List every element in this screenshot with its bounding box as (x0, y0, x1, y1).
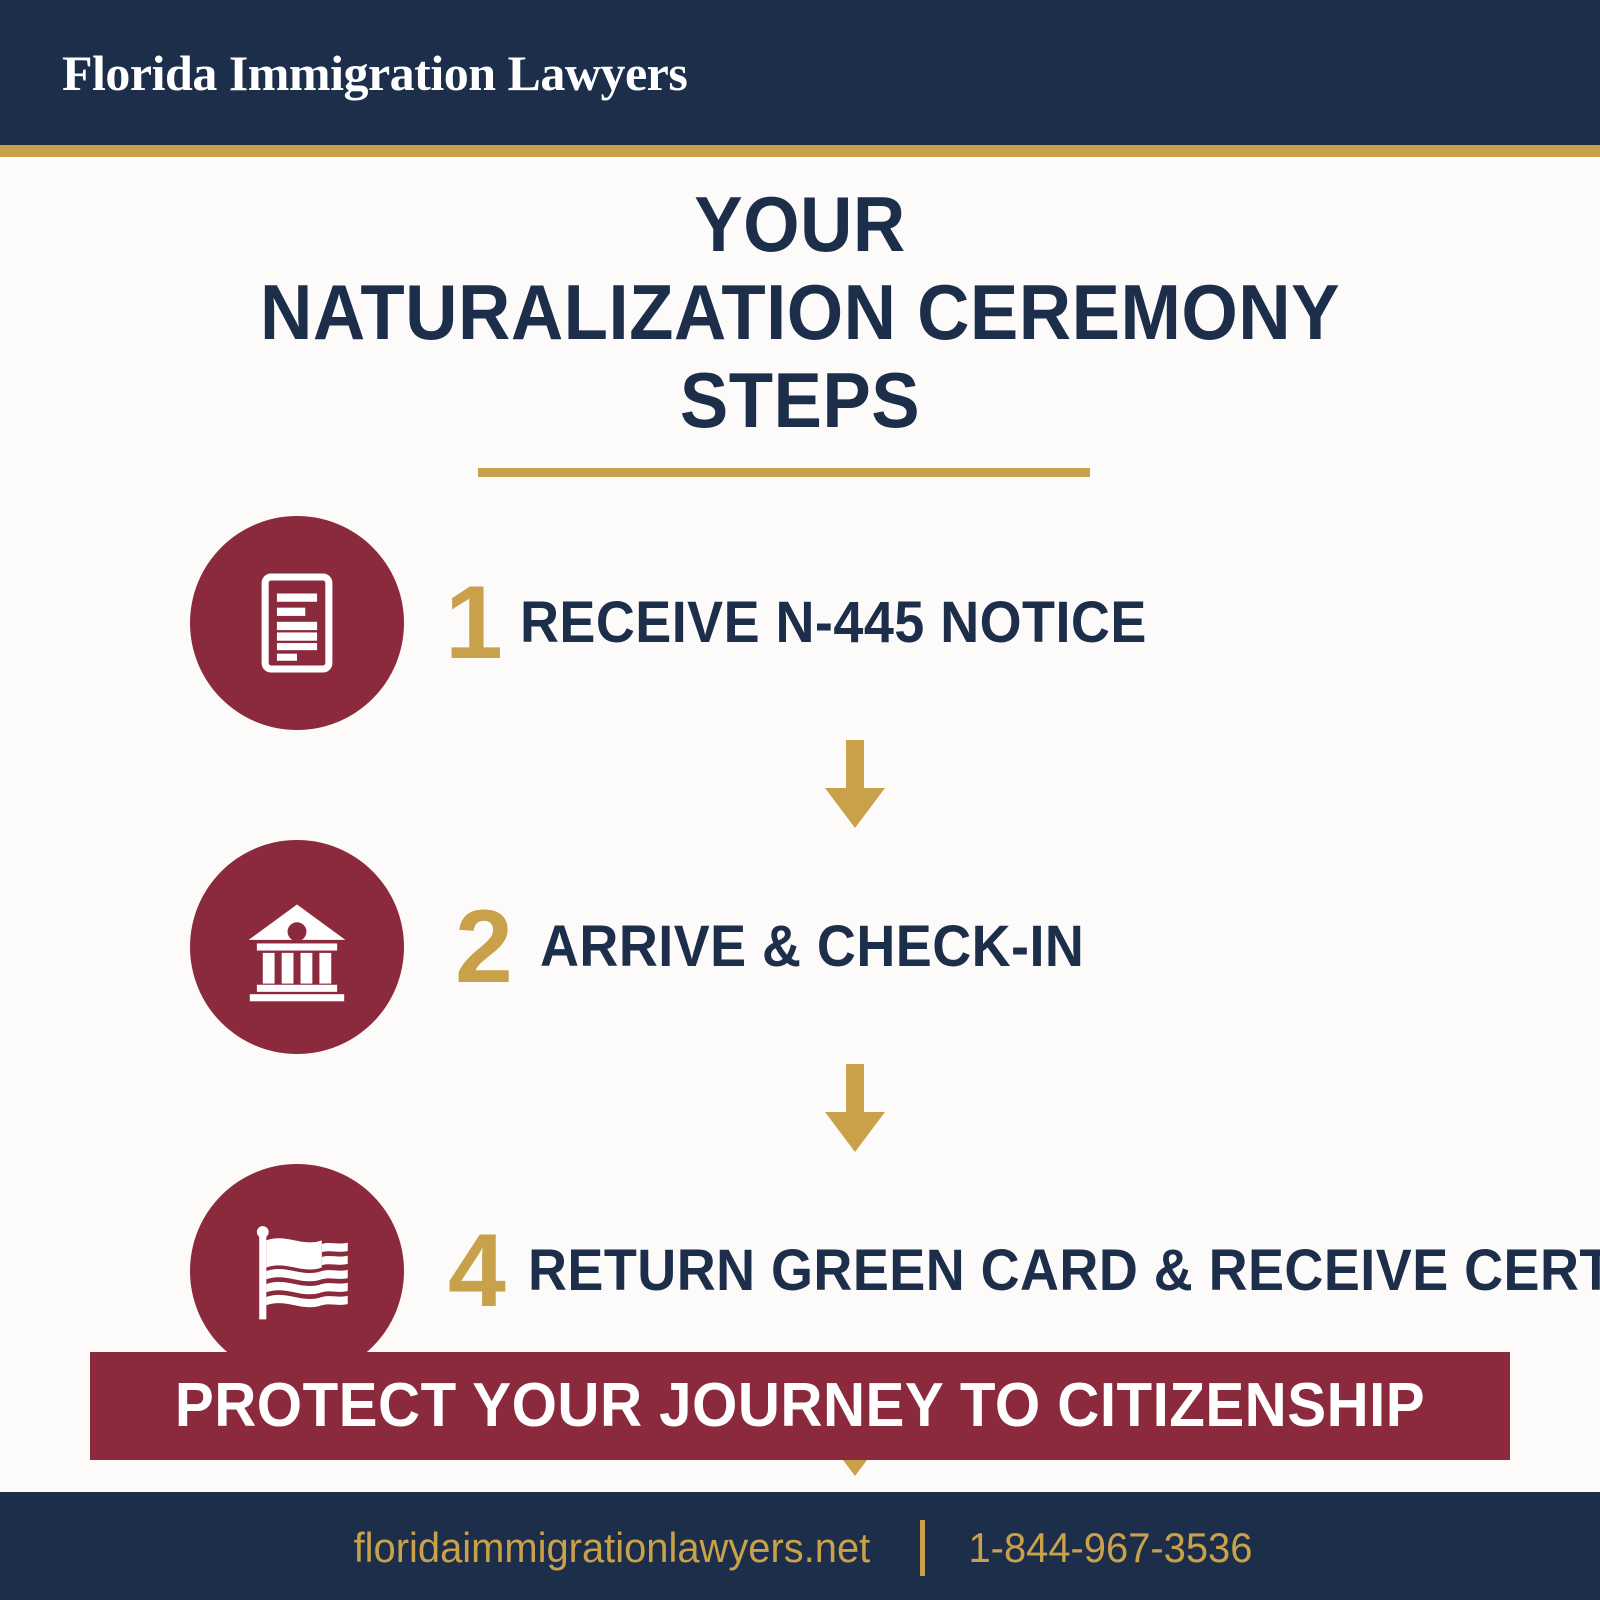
us-flag-icon (190, 1164, 404, 1378)
arrow-down-icon (823, 1064, 887, 1152)
step-number: 4 (448, 1219, 506, 1323)
cta-label: PROTECT YOUR JOURNEY TO CITIZENSHIP (175, 1373, 1425, 1439)
page-title-line-3: STEPS (233, 356, 1368, 444)
footer-phone[interactable]: 1-844-967-3536 (968, 1525, 1252, 1571)
step-icon-badge (190, 1164, 404, 1378)
step-label: ARRIVE & CHECK-IN (540, 916, 1084, 978)
page-title: YOUR NATURALIZATION CEREMONY STEPS (190, 180, 1410, 444)
brand-title: Florida Immigration Lawyers (62, 44, 687, 102)
page-footer: floridaimmigrationlawyers.net 1-844-967-… (0, 1492, 1600, 1600)
courthouse-icon (190, 840, 404, 1054)
step-item: 2 ARRIVE & CHECK-IN (0, 840, 1600, 1054)
step-item: 1 RECEIVE N-445 NOTICE (0, 516, 1600, 730)
title-divider (478, 468, 1090, 477)
steps-list: 1 RECEIVE N-445 NOTICE (0, 516, 1600, 1488)
step-connector (0, 1054, 1600, 1164)
arrow-down-icon (823, 740, 887, 828)
step-label: RECEIVE N-445 NOTICE (520, 592, 1147, 654)
step-item: 4 RETURN GREEN CARD & RECEIVE CERTIF (0, 1164, 1600, 1378)
page-title-line-2: NATURALIZATION CEREMONY (233, 268, 1368, 356)
document-icon (190, 516, 404, 730)
footer-website[interactable]: floridaimmigrationlawyers.net (354, 1525, 871, 1571)
page-title-line-1: YOUR (233, 180, 1368, 268)
footer-divider (920, 1520, 925, 1576)
step-number: 2 (455, 895, 513, 999)
step-number: 1 (445, 571, 503, 675)
infographic-canvas: Florida Immigration Lawyers YOUR NATURAL… (0, 0, 1600, 1600)
step-label: RETURN GREEN CARD & RECEIVE CERTIF (528, 1240, 1600, 1302)
step-connector (0, 730, 1600, 840)
footer-contact: floridaimmigrationlawyers.net 1-844-967-… (340, 1520, 1260, 1576)
header-accent-rule (0, 145, 1600, 157)
cta-banner[interactable]: PROTECT YOUR JOURNEY TO CITIZENSHIP (90, 1352, 1510, 1460)
page-header: Florida Immigration Lawyers (0, 0, 1600, 145)
step-icon-badge (190, 840, 404, 1054)
step-icon-badge (190, 516, 404, 730)
